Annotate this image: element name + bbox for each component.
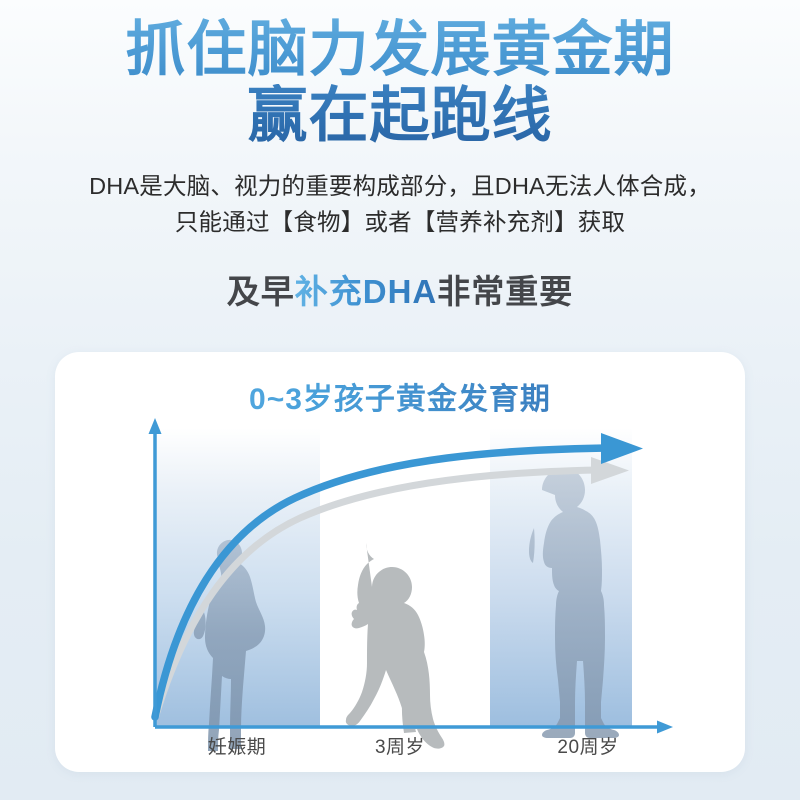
body-copy-line-1: DHA是大脑、视力的重要构成部分，且DHA无法人体合成， — [0, 169, 800, 205]
page-headline: 抓住脑力发展黄金期 赢在起跑线 — [0, 0, 800, 147]
emphasis-line: 及早补充DHA非常重要 — [0, 265, 800, 313]
y-axis-arrowhead — [149, 418, 162, 434]
growth-chart-svg — [55, 410, 745, 772]
chart-category-labels: 妊娠期 3周岁 20周岁 — [0, 732, 800, 764]
headline-line-2: 赢在起跑线 — [0, 84, 800, 148]
axis-label-20-years: 20周岁 — [557, 732, 618, 759]
body-copy-line-2: 只能通过【食物】或者【营养补充剂】获取 — [0, 205, 800, 241]
axis-label-3-years: 3周岁 — [375, 732, 425, 759]
axis-label-pregnancy: 妊娠期 — [208, 732, 267, 759]
emphasis-suffix: 非常重要 — [437, 273, 573, 310]
emphasis-prefix: 及早 — [227, 273, 295, 310]
emphasis-highlight: 补充DHA — [295, 273, 438, 310]
body-copy: DHA是大脑、视力的重要构成部分，且DHA无法人体合成， 只能通过【食物】或者【… — [0, 169, 800, 240]
headline-line-1: 抓住脑力发展黄金期 — [0, 18, 800, 82]
growth-chart-card: 0~3岁孩子黄金发育期 — [55, 352, 745, 772]
growth-chart — [55, 410, 745, 772]
